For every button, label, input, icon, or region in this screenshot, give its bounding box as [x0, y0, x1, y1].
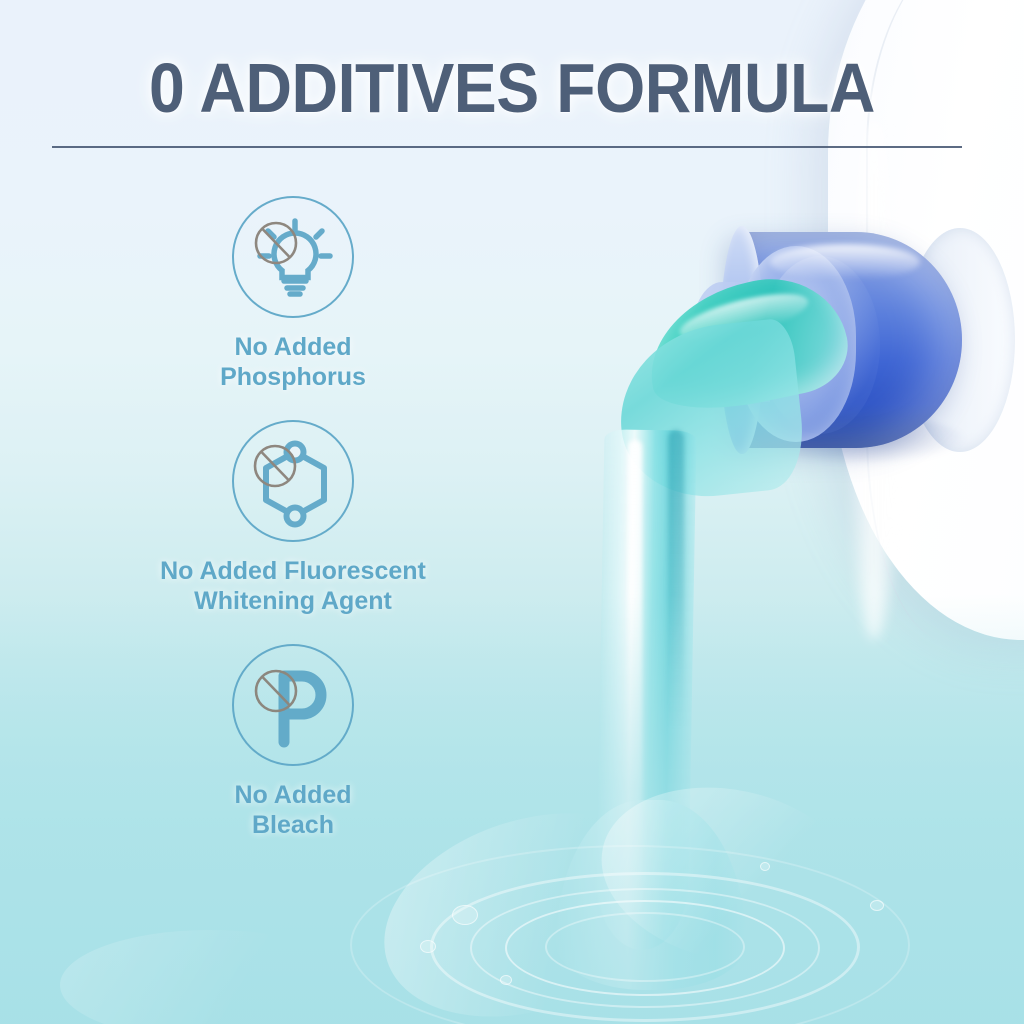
no-fluorescent-whitening-molecule-icon: [232, 420, 354, 542]
pool-bubble: [500, 975, 512, 985]
pool-bubble: [760, 862, 770, 871]
feature-item-fluorescent: No Added Fluorescent Whitening Agent: [0, 420, 586, 616]
product-infographic: 0 ADDITIVES FORMULA: [0, 0, 1024, 1024]
pool-swirl: [60, 930, 360, 1024]
cap-top-highlight: [770, 244, 920, 280]
no-bleach-p-icon: [232, 644, 354, 766]
liquid-stream-shadow: [668, 430, 684, 730]
feature-list: No Added Phosphorus No Added Fluorescent: [0, 196, 586, 840]
feature-label-bleach: No Added Bleach: [0, 780, 586, 840]
feature-item-phosphorus: No Added Phosphorus: [0, 196, 586, 392]
pool-bubble: [420, 940, 436, 953]
page-title: 0 ADDITIVES FORMULA: [41, 52, 983, 124]
pool-bubble: [870, 900, 884, 911]
feature-label-phosphorus: No Added Phosphorus: [0, 332, 586, 392]
feature-item-bleach: No Added Bleach: [0, 644, 586, 840]
pool-bubble: [452, 905, 478, 925]
no-phosphorus-lightbulb-icon: [232, 196, 354, 318]
title-divider: [52, 146, 962, 148]
feature-label-fluorescent: No Added Fluorescent Whitening Agent: [0, 556, 586, 616]
